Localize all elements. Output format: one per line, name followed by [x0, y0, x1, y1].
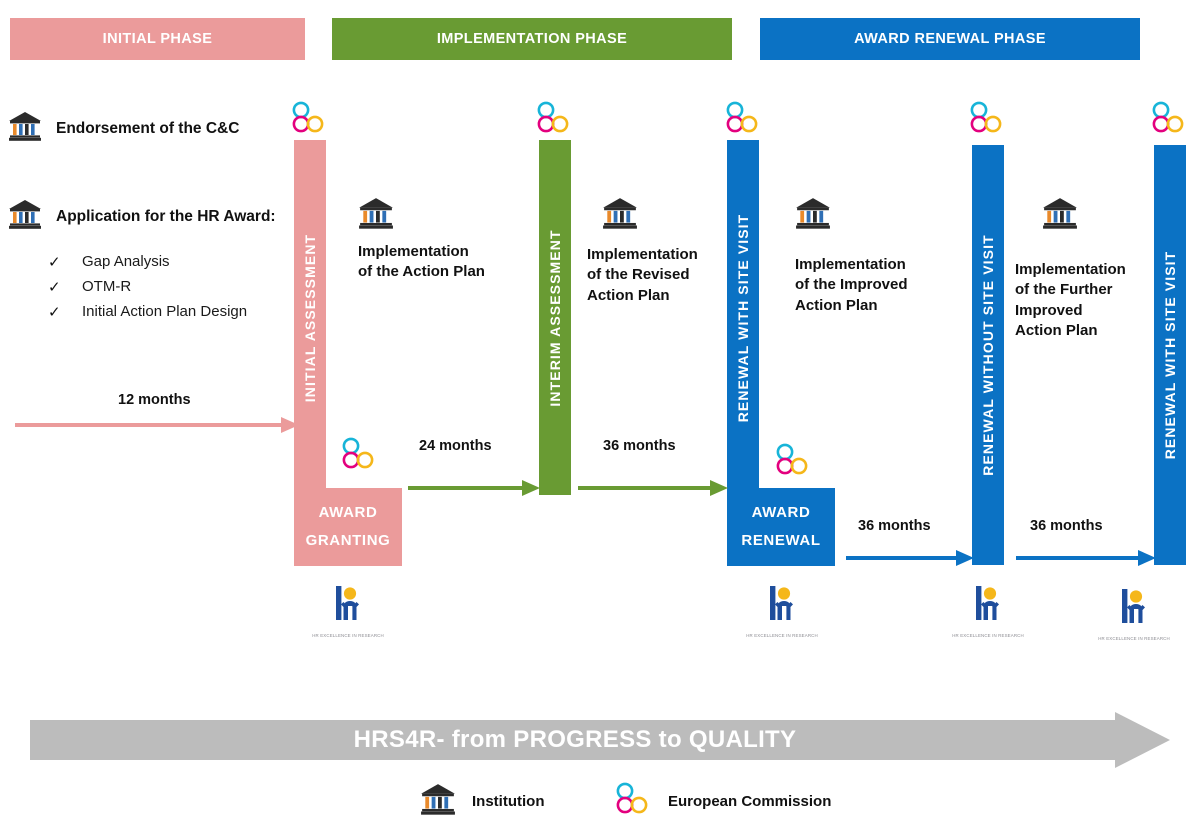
award-granting-box: AWARD GRANTING	[294, 488, 402, 566]
endorsement-row: Endorsement of the C&C	[8, 110, 239, 147]
progress-banner: HRS4R- from PROGRESS to QUALITY	[30, 712, 1170, 768]
duration-label-36-months-green: 36 months	[603, 438, 676, 454]
award-renewal-box: AWARD RENEWAL	[727, 488, 835, 566]
progress-banner-arrow	[30, 712, 1170, 768]
legend-label-institution: Institution	[472, 793, 544, 810]
duration-label-24-months: 24 months	[419, 438, 492, 454]
work-block-improved-action-plan: Implementation of the Improved Action Pl…	[795, 255, 970, 316]
phase-banner-implementation-label: IMPLEMENTATION PHASE	[437, 31, 627, 47]
award-renewal-line2: RENEWAL	[741, 527, 820, 556]
work-block-further-improved-action-plan: Implementation of the Further Improved A…	[1015, 260, 1165, 341]
european-commission-icon	[288, 101, 328, 140]
work-block-revised-action-plan: Implementation of the Revised Action Pla…	[587, 245, 747, 306]
milestone-initial-assessment-label: INITIAL ASSESSMENT	[302, 233, 318, 401]
duration-arrow-36-months-blue-2	[1016, 548, 1156, 568]
european-commission-icon	[533, 101, 573, 140]
list-item: ✓ Gap Analysis	[48, 253, 308, 271]
institution-icon	[8, 198, 42, 235]
institution-icon	[602, 196, 638, 235]
award-renewal-line1: AWARD	[752, 499, 811, 528]
milestone-interim-assessment: INTERIM ASSESSMENT	[539, 140, 571, 495]
duration-arrow-12-months	[15, 415, 299, 435]
milestone-interim-assessment-label: INTERIM ASSESSMENT	[547, 229, 563, 406]
european-commission-icon	[772, 443, 812, 482]
work-block-action-plan: Implementation of the Action Plan	[358, 242, 528, 283]
institution-icon	[8, 110, 42, 147]
application-label: Application for the HR Award:	[56, 208, 276, 226]
milestone-renewal-with-site-visit-2: RENEWAL WITH SITE VISIT	[1154, 145, 1186, 565]
list-item-label: Initial Action Plan Design	[82, 303, 247, 320]
institution-icon	[795, 196, 831, 235]
phase-banner-award-renewal: AWARD RENEWAL PHASE	[760, 18, 1140, 60]
hr-excellence-caption: HR EXCELLENCE IN RESEARCH	[950, 633, 1026, 638]
phase-banner-award-renewal-label: AWARD RENEWAL PHASE	[854, 31, 1046, 47]
legend-label-european-commission: European Commission	[668, 793, 831, 810]
hr-excellence-caption: HR EXCELLENCE IN RESEARCH	[1096, 636, 1172, 641]
application-row: Application for the HR Award:	[8, 198, 276, 235]
european-commission-icon	[966, 101, 1006, 140]
milestone-renewal-without-site-visit-label: RENEWAL WITHOUT SITE VISIT	[980, 234, 996, 475]
check-icon: ✓	[48, 303, 82, 321]
award-granting-line2: GRANTING	[306, 527, 391, 556]
hr-excellence-logo: HR EXCELLENCE IN RESEARCH	[1096, 583, 1172, 641]
duration-arrow-36-months-blue-1	[846, 548, 974, 568]
hr-excellence-caption: HR EXCELLENCE IN RESEARCH	[744, 633, 820, 638]
duration-label-12-months: 12 months	[118, 392, 191, 408]
check-icon: ✓	[48, 253, 82, 271]
institution-icon	[358, 196, 394, 235]
list-item: ✓ Initial Action Plan Design	[48, 303, 308, 321]
list-item: ✓ OTM-R	[48, 278, 308, 296]
hr-excellence-logo: HR EXCELLENCE IN RESEARCH	[744, 580, 820, 638]
duration-arrow-24-months	[408, 478, 540, 498]
duration-label-36-months-blue-1: 36 months	[858, 518, 931, 534]
phase-banner-implementation: IMPLEMENTATION PHASE	[332, 18, 732, 60]
milestone-initial-assessment: INITIAL ASSESSMENT	[294, 140, 326, 495]
duration-label-36-months-blue-2: 36 months	[1030, 518, 1103, 534]
phase-banner-initial: INITIAL PHASE	[10, 18, 305, 60]
european-commission-icon	[338, 437, 378, 476]
institution-icon	[1042, 196, 1078, 235]
list-item-label: Gap Analysis	[82, 253, 170, 270]
european-commission-icon	[722, 101, 762, 140]
application-checklist: ✓ Gap Analysis ✓ OTM-R ✓ Initial Action …	[48, 253, 308, 328]
duration-arrow-36-months-green	[578, 478, 728, 498]
check-icon: ✓	[48, 278, 82, 296]
european-commission-icon	[612, 782, 652, 821]
list-item-label: OTM-R	[82, 278, 131, 295]
hr-excellence-caption: HR EXCELLENCE IN RESEARCH	[310, 633, 386, 638]
milestone-renewal-with-site-visit-1: RENEWAL WITH SITE VISIT	[727, 140, 759, 495]
hr-excellence-logo: HR EXCELLENCE IN RESEARCH	[950, 580, 1026, 638]
european-commission-icon	[1148, 101, 1188, 140]
legend-item-european-commission: European Commission	[612, 782, 831, 821]
diagram-canvas: INITIAL PHASE IMPLEMENTATION PHASE AWARD…	[0, 0, 1200, 835]
hr-excellence-logo: HR EXCELLENCE IN RESEARCH	[310, 580, 386, 638]
phase-banner-initial-label: INITIAL PHASE	[103, 31, 213, 47]
institution-icon	[420, 782, 456, 821]
award-granting-line1: AWARD	[319, 499, 378, 528]
milestone-renewal-without-site-visit: RENEWAL WITHOUT SITE VISIT	[972, 145, 1004, 565]
legend-item-institution: Institution	[420, 782, 544, 821]
endorsement-label: Endorsement of the C&C	[56, 120, 239, 138]
